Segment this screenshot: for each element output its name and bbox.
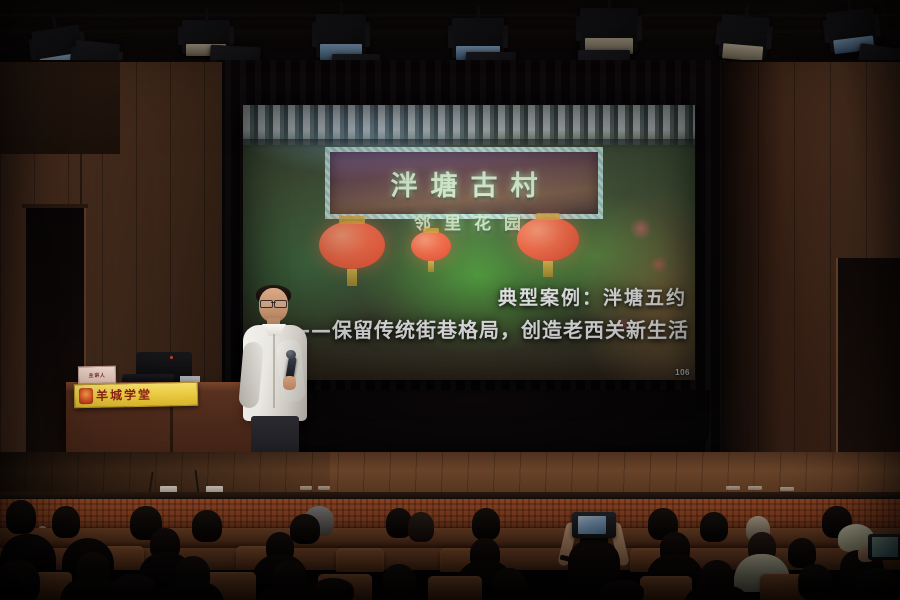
audience-area (0, 498, 900, 600)
audience-head (798, 564, 832, 600)
audience-head (52, 506, 80, 538)
stage-light-icon (580, 8, 638, 52)
audience-head (112, 574, 156, 600)
door-right (836, 258, 900, 478)
plaque-title: 泮塘古村 (378, 164, 551, 203)
seat[interactable] (640, 576, 692, 600)
speaker (243, 288, 307, 458)
venue-banner-text: 羊城学堂 (96, 389, 152, 402)
floor-marker (318, 486, 330, 490)
slide-overlay-subheading: ——保留传统街巷格局，创造老西关新生活 (290, 314, 689, 343)
floor-marker (300, 486, 312, 490)
tablet-screen (872, 537, 898, 557)
seat[interactable] (336, 548, 384, 572)
slide-overlay-heading: 典型案例：泮塘五约 (498, 283, 687, 310)
auditorium-scene: 泮塘古村 邻里花园 典型案例：泮塘五约 ——保留传统街巷格局，创造老西关新生活 … (0, 0, 900, 600)
venue-logo-icon (79, 388, 93, 404)
audience-head (472, 508, 500, 540)
speaker-name-card-text: 主讲人 (89, 371, 106, 378)
venue-banner: 羊城学堂 (74, 382, 198, 409)
speaker-shirt-placket (273, 334, 275, 408)
audience-head (290, 514, 320, 544)
wall-shadow-right (722, 62, 782, 482)
speaker-name-card: 主讲人 (78, 366, 116, 385)
stage-light-icon (718, 14, 769, 60)
audience-head (600, 580, 644, 600)
audience-head (492, 568, 526, 600)
seat[interactable] (428, 576, 482, 600)
floor-marker (780, 487, 794, 491)
wood-wall-left-upper (0, 62, 120, 154)
lantern-icon (517, 217, 579, 261)
audience-head (700, 512, 728, 542)
lantern-icon (411, 231, 451, 261)
floor-marker (748, 486, 762, 490)
audience-head (6, 500, 36, 534)
camera-icon (572, 512, 616, 538)
audience-head (192, 510, 222, 542)
stage-light-icon (316, 14, 366, 58)
glasses-icon (260, 300, 287, 306)
audience-head (0, 560, 40, 600)
audience-head (856, 568, 900, 600)
floor-marker (726, 486, 740, 490)
slide-page-number: 106 (675, 368, 690, 377)
tablet-icon (868, 534, 900, 560)
camera-screen (578, 516, 606, 534)
lantern-icon (319, 221, 385, 269)
audience-head (312, 578, 354, 600)
audience-person (684, 586, 750, 600)
speaker-hand (283, 376, 296, 390)
audience-head (408, 512, 434, 542)
audience-head (382, 564, 416, 600)
projection-screen: 泮塘古村 邻里花园 典型案例：泮塘五约 ——保留传统街巷格局，创造老西关新生活 … (243, 105, 695, 380)
